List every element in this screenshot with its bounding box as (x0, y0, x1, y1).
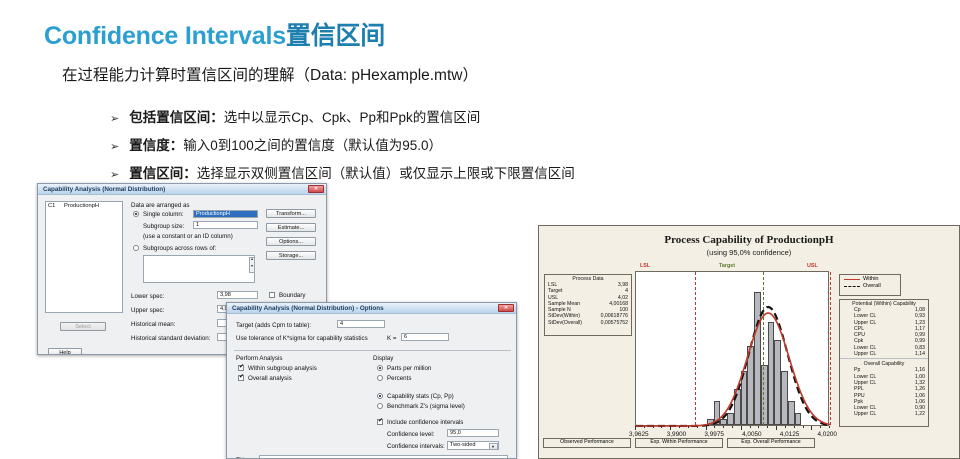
x-tick (820, 426, 821, 428)
lower-boundary-checkbox[interactable] (269, 292, 275, 298)
single-column-input[interactable]: ProductionpH (193, 210, 258, 218)
perform-analysis-label: Perform Analysis (236, 355, 282, 362)
lsl-line (695, 272, 696, 425)
x-tick (644, 426, 645, 428)
single-column-label: Single column: (143, 211, 184, 218)
x-axis-labels: 3,96253,99003,99754,00504,01254,0200 (629, 431, 837, 438)
stat-row: Upper CL1,22 (840, 411, 928, 417)
confidence-intervals-label: Confidence intervals: (387, 443, 445, 450)
performance-panels: Observed PerformanceExp. Within Performa… (543, 438, 815, 448)
x-tick (785, 426, 786, 428)
scroll-down-icon[interactable]: ▼ (250, 265, 254, 272)
k-label: K = (387, 335, 396, 342)
x-tick (653, 426, 654, 428)
confidence-intervals-value: Two-sided (450, 442, 476, 448)
bullet-arrow-icon: ➢ (110, 140, 119, 153)
data-arranged-label: Data are arranged as (131, 202, 189, 209)
varlist-col-name: ProductionpH (64, 203, 99, 209)
capability-analysis-options-dialog[interactable]: Capability Analysis (Normal Distribution… (226, 302, 517, 459)
stat-key: Upper CL (854, 351, 876, 357)
within-subgroup-checkbox[interactable] (238, 365, 244, 371)
estimate-button[interactable]: Estimate... (266, 223, 316, 232)
dialog-title-bar[interactable]: Capability Analysis (Normal Distribution… (38, 184, 326, 195)
x-tick (706, 426, 707, 430)
divider (840, 358, 928, 359)
legend-label-within: Within (863, 276, 879, 282)
x-tick (767, 426, 768, 428)
page-title-en: Confidence Intervals (44, 22, 286, 50)
stat-value: 0,00575752 (601, 320, 628, 326)
stat-value: 1,22 (915, 411, 925, 417)
capability-stats-label: Capability stats (Cp, Pp) (387, 393, 454, 400)
x-tick (661, 426, 662, 428)
listbox-scroll-spinner[interactable]: ▲ ▼ (249, 257, 255, 273)
x-tick (697, 426, 698, 428)
varlist-col-id: C1 (48, 203, 55, 209)
transform-button[interactable]: Transform... (266, 209, 316, 218)
overall-curve (636, 307, 830, 426)
stat-row: StDev(Overall)0,00575752 (545, 320, 631, 326)
target-label: Target (adds Cpm to table): (236, 322, 311, 329)
k-input[interactable]: 6 (401, 333, 449, 341)
x-tick (811, 426, 812, 430)
overall-analysis-label: Overall analysis (248, 375, 292, 382)
benchmark-z-radio[interactable] (377, 403, 383, 409)
subgroup-hint: (use a constant or an ID column) (143, 233, 233, 240)
parts-per-million-radio[interactable] (377, 365, 383, 371)
bullet-item-3: ➢ 置信区间：选择显示双侧置信区间（默认值）或仅显示上限或下限置信区间 (110, 162, 575, 182)
upper-spec-label: Upper spec: (131, 307, 164, 314)
subgroup-size-label: Subgroup size: (143, 223, 184, 230)
x-tick (635, 426, 636, 430)
select-button[interactable]: Select (60, 322, 106, 331)
overall-capability-title: Overall Capability (840, 360, 928, 367)
x-tick-label: 4,0050 (742, 431, 762, 438)
x-tick (714, 426, 715, 428)
options-button[interactable]: Options... (266, 237, 316, 246)
chart-subtitle: (using 95,0% confidence) (539, 248, 959, 257)
options-dialog-title-text: Capability Analysis (Normal Distribution… (232, 305, 498, 312)
performance-panel: Exp. Within Performance (635, 438, 723, 448)
bullet-1-text: 选中以显示Cp、Cpk、Pp和Ppk的置信区间 (224, 110, 481, 125)
lower-spec-input[interactable]: 3,98 (217, 291, 258, 299)
legend-item-within: Within (840, 275, 900, 282)
process-data-title: Process Data (545, 275, 631, 282)
historical-mean-label: Historical mean: (131, 321, 175, 328)
usl-label: USL (807, 263, 818, 269)
bullet-3-text: 选择显示双侧置信区间（默认值）或仅显示上限或下限置信区间 (197, 166, 575, 181)
x-tick-label: 4,0200 (817, 431, 837, 438)
process-data-panel: Process Data LSL3,98Target4USL4,02Sample… (544, 274, 632, 336)
x-tick (750, 426, 751, 428)
display-label: Display (373, 355, 393, 362)
x-tick (688, 426, 689, 428)
chart-title: Process Capability of ProductionpH (539, 234, 959, 246)
historical-sd-label: Historical standard deviation: (131, 335, 210, 342)
x-tick (794, 426, 795, 428)
capability-table: Potential (Within) Capability Cp1,08Lowe… (839, 299, 929, 427)
x-tick (723, 426, 724, 428)
overall-line-icon (844, 286, 860, 287)
legend-label-overall: Overall (863, 283, 881, 289)
subgroups-rows-listbox[interactable] (143, 255, 255, 283)
chevron-down-icon[interactable]: ▼ (489, 443, 498, 450)
divider (234, 350, 511, 351)
x-tick-label: 3,9625 (629, 431, 649, 438)
include-confidence-intervals-label: Include confidence intervals (387, 419, 463, 426)
x-tick (758, 426, 759, 428)
performance-panel: Observed Performance (543, 438, 631, 448)
title-field-input[interactable] (259, 455, 508, 459)
include-confidence-intervals-checkbox[interactable] (377, 419, 383, 425)
x-axis-ticks (635, 426, 829, 430)
storage-button[interactable]: Storage... (266, 251, 316, 260)
bullet-3-strong: 置信区间： (129, 166, 197, 181)
close-icon[interactable]: ✕ (498, 304, 514, 312)
benchmark-z-label: Benchmark Z's (sigma level) (387, 403, 465, 410)
x-tick (776, 426, 777, 430)
distribution-curves (636, 272, 830, 427)
legend-item-overall: Overall (840, 282, 900, 289)
capability-stats-radio[interactable] (377, 393, 383, 399)
confidence-level-input[interactable]: 95,0 (447, 429, 499, 437)
performance-panel-title: Exp. Within Performance (636, 439, 722, 446)
options-dialog-title-bar[interactable]: Capability Analysis (Normal Distribution… (227, 303, 516, 314)
x-tick-label: 3,9900 (667, 431, 687, 438)
bullet-arrow-icon: ➢ (110, 112, 119, 125)
lower-spec-label: Lower spec: (131, 293, 164, 300)
bullet-2-strong: 置信度： (129, 138, 183, 153)
histogram-plot-area (635, 271, 829, 426)
x-tick-label: 4,0125 (780, 431, 800, 438)
within-line-icon (844, 279, 860, 280)
target-label: Target (719, 263, 735, 269)
percents-radio[interactable] (377, 375, 383, 381)
bullet-item-1: ➢ 包括置信区间：选中以显示Cp、Cpk、Pp和Ppk的置信区间 (110, 106, 480, 126)
x-tick (732, 426, 733, 428)
overall-capability-rows: Pp1,16Lower CL1,00Upper CL1,32PPL1,26PPU… (840, 367, 928, 417)
parts-per-million-label: Parts per million (387, 365, 431, 372)
help-button[interactable]: Help (48, 348, 82, 355)
stat-key: Upper CL (854, 411, 876, 417)
stat-value: 1,14 (915, 351, 925, 357)
usl-line (830, 272, 831, 425)
stat-key: StDev(Overall) (548, 320, 582, 326)
tolerance-label: Use tolerance of K*sigma for capability … (236, 335, 368, 342)
x-tick-label: 3,9975 (704, 431, 724, 438)
dialog-title-text: Capability Analysis (Normal Distribution… (43, 186, 308, 193)
target-line (763, 272, 764, 425)
close-icon[interactable]: ✕ (308, 185, 324, 193)
percents-label: Percents (387, 375, 411, 382)
confidence-level-label: Confidence level: (387, 431, 434, 438)
lsl-label: LSL (640, 263, 650, 269)
target-input[interactable]: 4 (337, 320, 385, 328)
x-tick (741, 426, 742, 430)
within-subgroup-label: Within subgroup analysis (248, 365, 317, 372)
subgroups-across-rows-radio[interactable] (133, 245, 139, 251)
confidence-intervals-select[interactable]: Two-sided ▼ (447, 441, 499, 450)
process-data-rows: LSL3,98Target4USL4,02Sample Mean4,00168S… (545, 282, 631, 326)
x-tick (679, 426, 680, 428)
performance-panel: Exp. Overall Performance (727, 438, 815, 448)
x-tick (670, 426, 671, 430)
bullet-arrow-icon: ➢ (110, 168, 119, 181)
chart-legend: Within Overall (839, 274, 901, 296)
bullet-2-text: 输入0到100之间的置信度（默认值为95.0） (183, 138, 442, 153)
bullet-item-2: ➢ 置信度：输入0到100之间的置信度（默认值为95.0） (110, 134, 442, 154)
performance-panel-title: Exp. Overall Performance (728, 439, 814, 446)
page-title: Confidence Intervals置信区间 (44, 16, 385, 52)
single-column-radio[interactable] (133, 211, 139, 217)
variable-listbox[interactable] (45, 201, 123, 313)
potential-capability-rows: Cp1,08Lower CL0,93Upper CL1,23CPL1,17CPU… (840, 307, 928, 357)
lead-paragraph: 在过程能力计算时置信区间的理解（Data: pHexample.mtw） (62, 63, 478, 85)
subgroup-size-input[interactable]: 1 (193, 221, 258, 229)
potential-capability-title: Potential (Within) Capability (840, 300, 928, 307)
within-curve (636, 313, 830, 426)
x-tick (829, 426, 830, 428)
process-capability-chart[interactable]: Process Capability of ProductionpH (usin… (538, 225, 960, 459)
stat-row: Upper CL1,14 (840, 351, 928, 357)
overall-analysis-checkbox[interactable] (238, 375, 244, 381)
lower-boundary-label: Boundary (279, 292, 306, 299)
subgroups-across-rows-label: Subgroups across rows of: (143, 245, 216, 252)
performance-panel-title: Observed Performance (544, 439, 630, 446)
bullet-1-strong: 包括置信区间： (129, 110, 224, 125)
x-tick (803, 426, 804, 428)
page-title-cn: 置信区间 (286, 22, 385, 50)
